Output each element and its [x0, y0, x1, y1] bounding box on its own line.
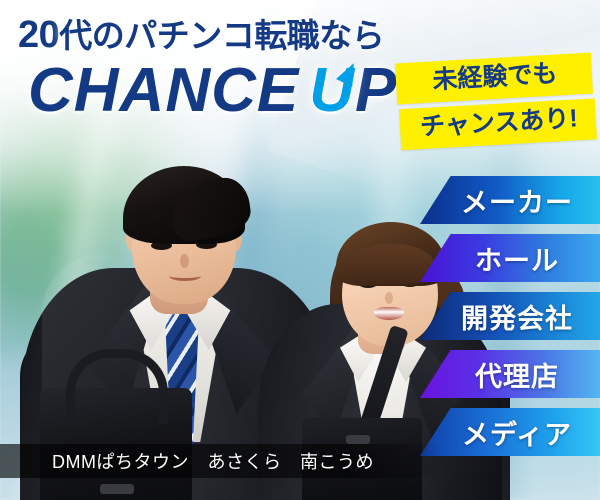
category-ribbon-maker[interactable]: メーカー — [420, 176, 600, 224]
category-ribbon-hall[interactable]: ホール — [420, 234, 600, 282]
woman-bag-clasp — [346, 435, 370, 444]
headline-age-number: 20 — [18, 14, 59, 56]
recruitment-banner[interactable]: 20代のパチンコ転職なら CHANCEUP 未経験でも チャンスあり! メーカー… — [0, 0, 600, 500]
category-label: メーカー — [447, 181, 573, 220]
headline-up-u: U — [309, 60, 355, 122]
category-ribbon-developer[interactable]: 開発会社 — [420, 292, 600, 340]
credit-caption-bar: DMMぱちタウン あさくら 南こうめ — [0, 444, 440, 478]
man-briefcase-clasp — [100, 484, 134, 494]
category-label: ホール — [461, 239, 559, 278]
man-mouth — [169, 271, 201, 281]
man-nose — [180, 254, 189, 268]
headline-chance-word: CHANCE — [28, 56, 299, 125]
highlight-badge: 未経験でも チャンスあり! — [396, 58, 592, 145]
badge-line-2: チャンスあり! — [399, 98, 597, 150]
headline-line-1-text: 代のパチンコ転職なら — [59, 17, 384, 54]
category-label: 開発会社 — [447, 297, 573, 336]
category-label: 代理店 — [461, 355, 559, 394]
badge-line-1: 未経験でも — [395, 53, 593, 105]
woman-mouth — [374, 307, 404, 320]
category-ribbon-media[interactable]: メディア — [420, 408, 600, 456]
headline-line-2: CHANCEUP — [28, 60, 448, 122]
credit-caption-text: DMMぱちタウン あさくら 南こうめ — [0, 448, 374, 474]
headline-block: 20代のパチンコ転職なら CHANCEUP — [18, 16, 448, 122]
category-ribbon-agency[interactable]: 代理店 — [420, 350, 600, 398]
headline-line-1: 20代のパチンコ転職なら — [18, 16, 448, 54]
man-briefcase-handle — [66, 349, 168, 424]
category-ribbon-list: メーカー ホール 開発会社 代理店 メディア — [420, 176, 600, 466]
woman-nose — [385, 292, 393, 304]
category-label: メディア — [448, 413, 572, 452]
